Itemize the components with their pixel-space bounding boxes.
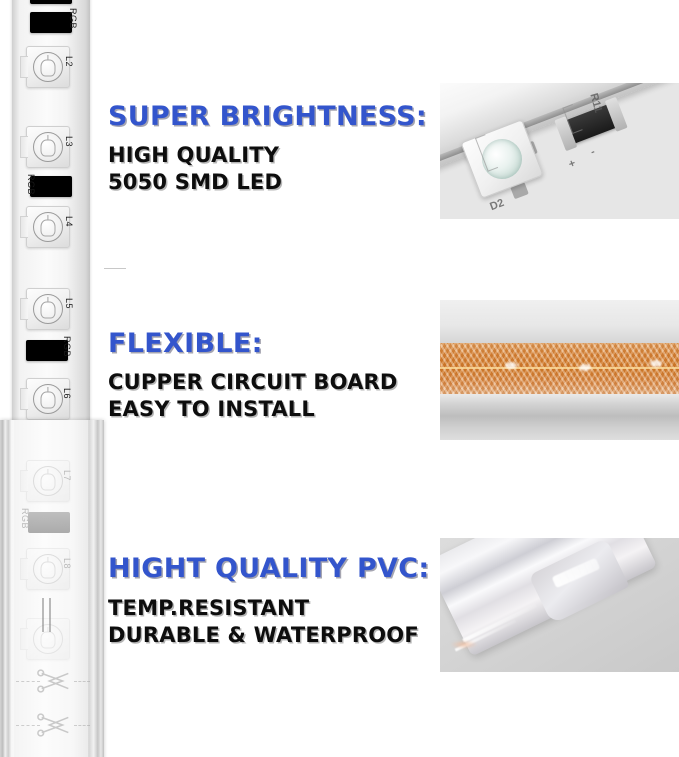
rgb-ic-chip <box>28 512 70 533</box>
led-lens <box>33 384 63 414</box>
feature-heading: FLEXIBLE: <box>108 330 398 358</box>
led-label-l7: L7 <box>62 470 72 481</box>
product-infographic: RGB L2 L3 RGB L4 L5 RGB <box>0 0 679 757</box>
highlight-speck <box>505 362 517 369</box>
led-tab <box>20 216 28 238</box>
led-tab <box>20 136 28 158</box>
pvc-tube-bottom <box>440 394 679 440</box>
led-label-l5: L5 <box>64 298 74 309</box>
feature-line: 5050 SMD LED <box>108 169 427 196</box>
solder-leads <box>40 598 60 632</box>
rgb-label: RGB <box>62 336 72 357</box>
copper-braid <box>440 343 679 393</box>
feature-line: DURABLE & WATERPROOF <box>108 622 429 649</box>
rgb-ic-chip <box>30 12 72 33</box>
cut-line <box>74 725 90 726</box>
feature-line: CUPPER CIRCUIT BOARD <box>108 369 398 396</box>
rgb-label: RGB <box>68 8 78 29</box>
led-tab <box>20 558 28 580</box>
scissors-icon <box>36 712 74 738</box>
led-lens <box>33 466 63 496</box>
photo-smd-led-closeup: R11 D2 + - <box>440 83 679 219</box>
rgb-label: RGB <box>20 508 30 529</box>
rgb-label: RGB <box>26 174 36 195</box>
rgb-ic-chip <box>30 176 72 197</box>
led-label-l8: L8 <box>62 558 72 569</box>
led-label-l2: L2 <box>64 56 74 67</box>
photo-pvc-sleeve <box>440 538 679 672</box>
feature-block-brightness: SUPER BRIGHTNESS: HIGH QUALITY 5050 SMD … <box>108 103 427 196</box>
led-lens <box>33 294 63 324</box>
feature-heading: SUPER BRIGHTNESS: <box>108 103 427 131</box>
led-lens <box>33 212 63 242</box>
feature-block-flexible: FLEXIBLE: CUPPER CIRCUIT BOARD EASY TO I… <box>108 330 398 423</box>
led-tab <box>20 56 28 78</box>
pvc-tube-top <box>440 300 679 343</box>
led-lens <box>33 132 63 162</box>
led-strip-illustration: RGB L2 L3 RGB L4 L5 RGB <box>0 0 110 757</box>
divider-dash <box>104 268 126 269</box>
feature-block-pvc: HIGHT QUALITY PVC: TEMP.RESISTANT DURABL… <box>108 555 429 649</box>
cut-marker-1 <box>14 668 92 694</box>
warm-reflection <box>450 640 479 649</box>
feature-line: HIGH QUALITY <box>108 142 427 169</box>
cut-marker-2 <box>14 712 92 738</box>
rgb-ic-chip <box>30 0 72 4</box>
scissors-icon <box>36 668 74 694</box>
led-lens <box>33 52 63 82</box>
feature-heading: HIGHT QUALITY PVC: <box>108 555 429 583</box>
cut-line <box>74 681 90 682</box>
led-lens <box>33 554 63 584</box>
led-tab <box>20 298 28 320</box>
led-tab <box>20 628 28 650</box>
photo-copper-circuit-board <box>440 300 679 440</box>
led-label-l4: L4 <box>64 216 74 227</box>
led-tab <box>20 470 28 492</box>
led-label-l6: L6 <box>62 388 72 399</box>
led-tab <box>20 388 28 410</box>
feature-line: EASY TO INSTALL <box>108 396 398 423</box>
feature-line: TEMP.RESISTANT <box>108 595 429 622</box>
led-label-l3: L3 <box>64 136 74 147</box>
